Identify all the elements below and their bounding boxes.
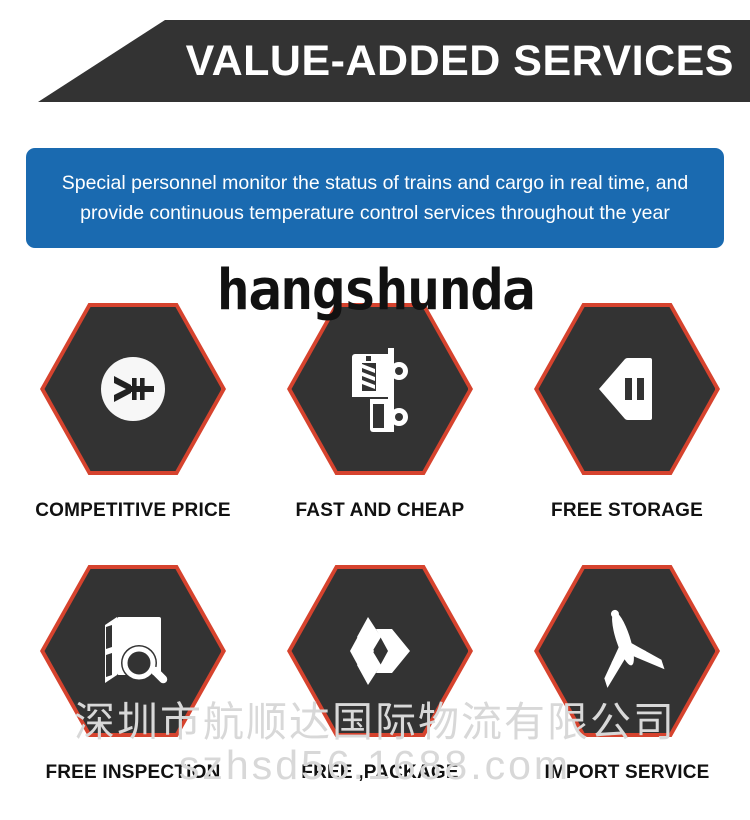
service-item-free-storage[interactable]: FREE STORAGE	[502, 296, 750, 522]
service-item-import-service[interactable]: IMPORT SERVICE	[502, 558, 750, 784]
service-label: FREE INSPECTION	[8, 762, 258, 784]
service-item-competitive-price[interactable]: COMPETITIVE PRICE	[8, 296, 258, 522]
service-label: FAST AND CHEAP	[255, 500, 505, 522]
page-title: VALUE-ADDED SERVICES	[0, 20, 750, 102]
open-box-icon	[287, 565, 473, 737]
service-label: COMPETITIVE PRICE	[8, 500, 258, 522]
service-label: FREE ,PACKAGE	[255, 762, 505, 784]
airplane-icon	[534, 565, 720, 737]
warehouse-icon	[534, 303, 720, 475]
box-magnifier-icon	[40, 565, 226, 737]
yen-coin-icon	[40, 303, 226, 475]
service-item-free-package[interactable]: FREE ,PACKAGE	[255, 558, 505, 784]
delivery-truck-icon	[287, 303, 473, 475]
callout-text: Special personnel monitor the status of …	[52, 168, 698, 228]
services-row-top: COMPETITIVE PRICE	[0, 296, 750, 558]
service-item-fast-and-cheap[interactable]: FAST AND CHEAP	[255, 296, 505, 522]
callout-box: Special personnel monitor the status of …	[26, 148, 724, 248]
service-label: IMPORT SERVICE	[502, 762, 750, 784]
services-grid: COMPETITIVE PRICE	[0, 296, 750, 820]
service-item-free-inspection[interactable]: FREE INSPECTION	[8, 558, 258, 784]
services-row-bottom: FREE INSPECTION FREE ,PACKAGE	[0, 558, 750, 820]
service-label: FREE STORAGE	[502, 500, 750, 522]
